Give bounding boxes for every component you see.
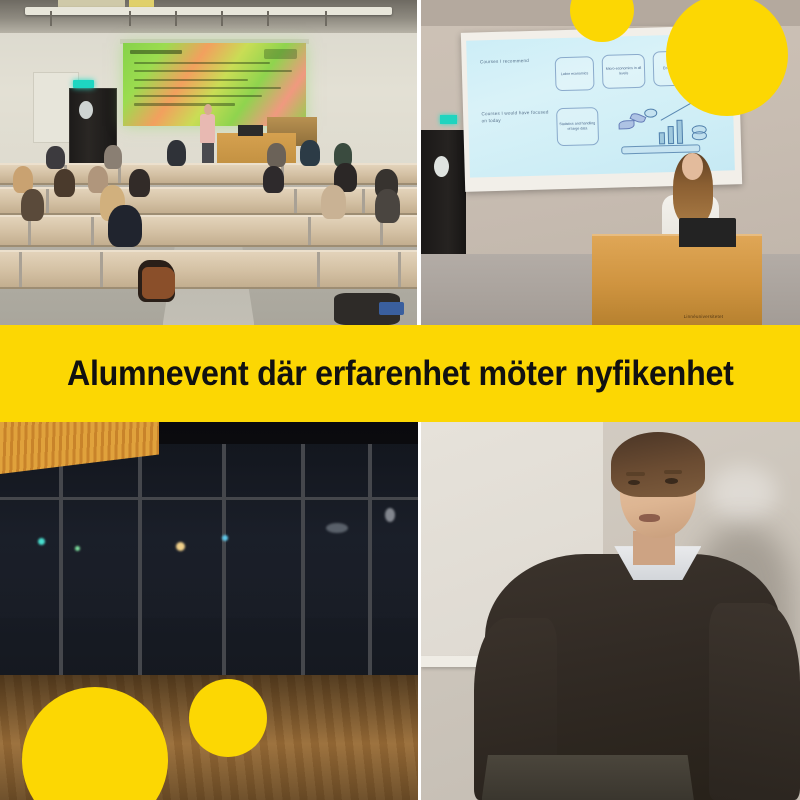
slide-card-2: Micro-economics in all levels	[602, 54, 645, 89]
portrait-scene	[421, 421, 800, 800]
photo-speaker-portrait	[421, 421, 800, 800]
speaker-hair	[611, 432, 706, 496]
slide-text-line	[134, 70, 292, 72]
banner-title: Alumnevent där erfarenhet möter nyfikenh…	[67, 354, 734, 394]
attendee	[46, 146, 65, 169]
attendee	[267, 143, 286, 167]
slide-heading-2: Courses I would have focused on today	[482, 110, 551, 126]
window-mullion	[368, 444, 372, 679]
speaker-eyebrow	[664, 470, 683, 474]
ceiling-beam	[325, 11, 327, 26]
ceiling-beam	[267, 11, 269, 26]
projection-screen	[123, 43, 306, 126]
lectern-laptop	[679, 218, 736, 247]
attendee	[263, 166, 284, 194]
slide-text-line	[134, 79, 248, 81]
speaker-slide-scene: Courses I recommend Courses I would have…	[421, 0, 800, 325]
ceiling-light-strip	[25, 7, 392, 15]
photo-collage: Courses I recommend Courses I would have…	[0, 0, 800, 800]
ceiling-beam	[50, 11, 52, 26]
slide-card-1: Labor economics	[555, 57, 596, 92]
attendee	[104, 145, 122, 169]
exit-sign-icon	[440, 115, 457, 123]
ceiling-beam	[221, 11, 223, 26]
ambient-light	[385, 508, 395, 522]
presenter-torso	[200, 114, 215, 143]
attendee	[375, 189, 400, 223]
slide-text-line	[134, 87, 281, 89]
door-window	[434, 156, 449, 177]
laptop-lid	[482, 755, 694, 800]
speaker-eyebrow	[626, 472, 645, 476]
ceiling-beam	[175, 11, 177, 26]
slide-heading-1: Courses I recommend	[480, 58, 549, 67]
room-door	[421, 130, 466, 254]
slide-heading	[130, 50, 181, 54]
speaker-eye	[665, 478, 678, 484]
title-banner: Alumnevent där erfarenhet möter nyfikenh…	[0, 325, 800, 422]
leather-bag	[142, 267, 175, 300]
window-mullion	[301, 444, 305, 679]
wall-highlight	[709, 466, 777, 519]
attendee	[167, 140, 186, 166]
speaker-mouth	[639, 514, 660, 522]
decorative-circle	[189, 679, 267, 757]
lectern-laptop	[238, 125, 263, 135]
slide-text-line	[134, 62, 270, 64]
window-mullion	[222, 444, 226, 679]
lectern-logo: Linnéuniversitetet	[684, 314, 724, 319]
seat-row	[0, 215, 417, 248]
speaker-right-arm	[709, 603, 800, 800]
slide-card-4: Statistics and handling of large data	[556, 107, 599, 146]
slide-logo	[264, 49, 297, 60]
ceiling-beam	[129, 11, 131, 26]
exit-sign-icon	[73, 80, 94, 88]
slide-text-line	[134, 103, 235, 105]
ambient-light	[176, 542, 185, 551]
window-mullion	[59, 444, 63, 679]
speaker-head	[682, 153, 703, 180]
attendee	[21, 189, 44, 222]
lecture-hall-scene	[0, 0, 417, 325]
slide-illustration	[614, 105, 716, 157]
attendee-torso	[108, 205, 141, 247]
ambient-light	[222, 535, 228, 541]
photo-lecture-hall	[0, 0, 417, 325]
window-transom	[0, 497, 418, 500]
glass-facade	[0, 444, 418, 679]
photo-mingle	[0, 421, 418, 800]
seat-row	[0, 250, 417, 289]
attendee	[129, 169, 150, 197]
attendee	[300, 140, 320, 166]
phone-screen	[379, 302, 404, 315]
attendee	[54, 169, 75, 197]
slide-text-line	[134, 95, 262, 97]
window-mullion	[138, 444, 142, 679]
mingle-scene	[0, 421, 418, 800]
photo-speaker-with-slide: Courses I recommend Courses I would have…	[421, 0, 800, 325]
attendee	[321, 185, 346, 219]
lectern: Linnéuniversitetet	[592, 234, 763, 325]
